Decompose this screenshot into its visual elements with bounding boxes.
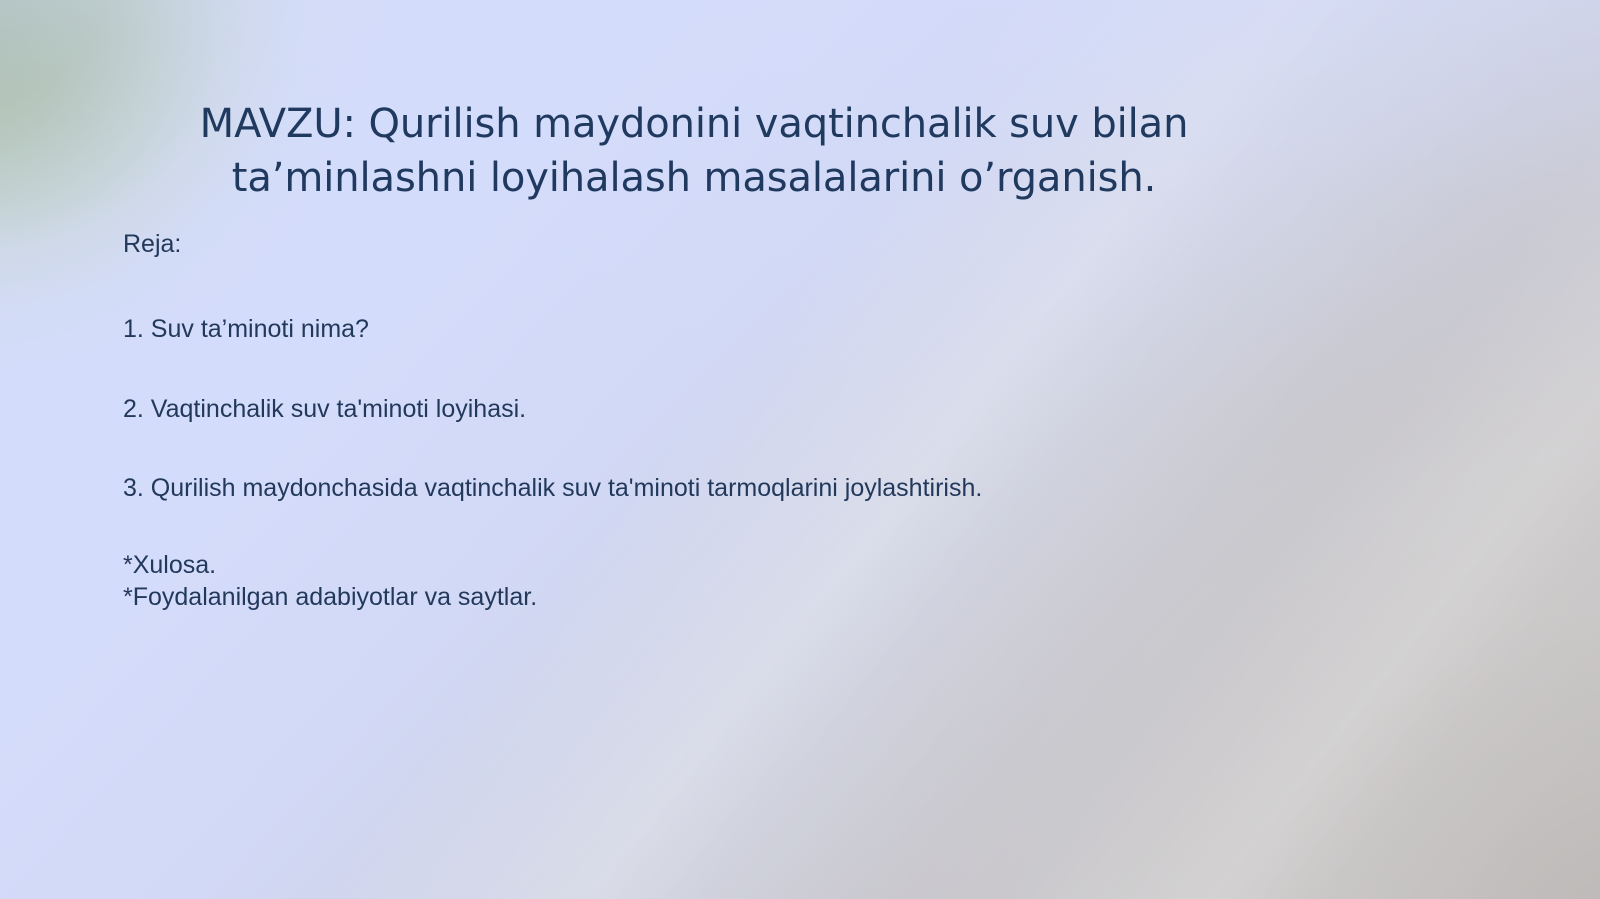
spacer-after-heading — [123, 260, 1483, 313]
slide-body: Reja: 1. Suv ta’minoti nima? 2. Vaqtinch… — [123, 228, 1483, 613]
slide-title-line-2: ta’minlashni loyihalash masalalarini o’r… — [118, 151, 1270, 205]
agenda-item-2: 2. Vaqtinchalik suv ta'minoti loyihasi. — [123, 393, 1483, 425]
agenda-heading: Reja: — [123, 228, 1483, 260]
spacer-after-item-1 — [123, 345, 1483, 393]
slide-title: MAVZU: Qurilish maydonini vaqtinchalik s… — [118, 97, 1270, 205]
spacer-after-item-3 — [123, 504, 1483, 549]
slide-title-line-1: MAVZU: Qurilish maydonini vaqtinchalik s… — [118, 97, 1270, 151]
agenda-item-1: 1. Suv ta’minoti nima? — [123, 313, 1483, 345]
slide-content: MAVZU: Qurilish maydonini vaqtinchalik s… — [0, 0, 1600, 899]
footnote-references: *Foydalanilgan adabiyotlar va saytlar. — [123, 581, 1483, 613]
presentation-slide: MAVZU: Qurilish maydonini vaqtinchalik s… — [0, 0, 1600, 899]
spacer-after-item-2 — [123, 425, 1483, 472]
footnote-conclusion: *Xulosa. — [123, 549, 1483, 581]
agenda-item-3: 3. Qurilish maydonchasida vaqtinchalik s… — [123, 472, 1483, 504]
